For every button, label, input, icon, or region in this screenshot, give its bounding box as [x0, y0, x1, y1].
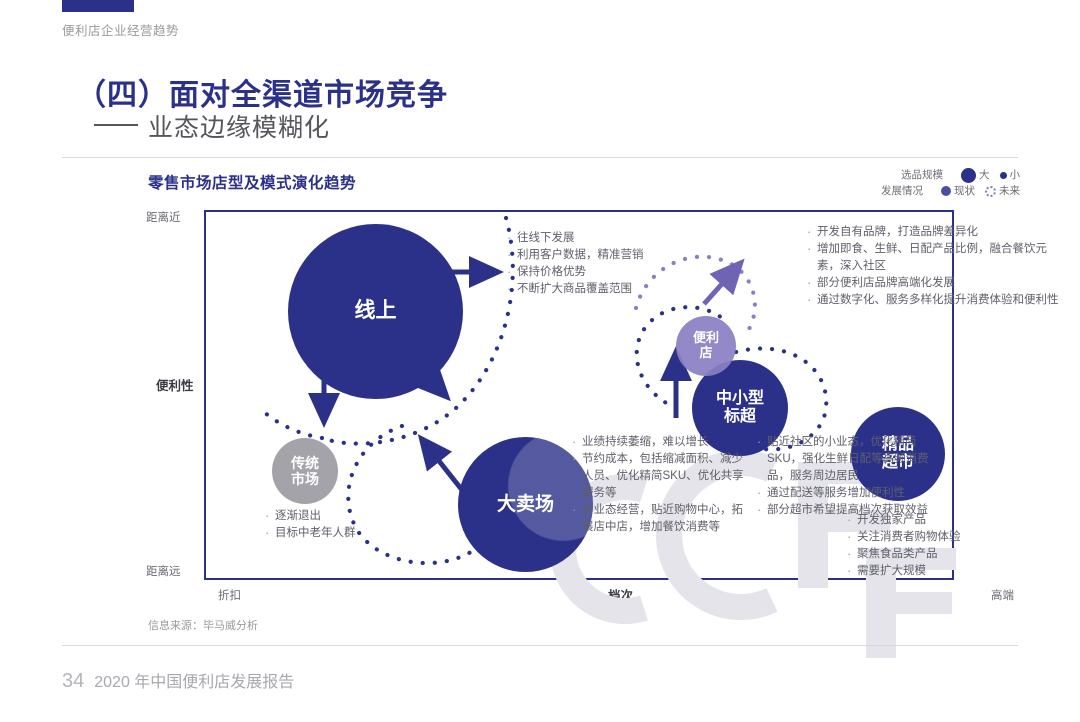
bubble-online[interactable]: 线上: [288, 224, 463, 399]
annotation-bullet: 不断扩大商品覆盖范围: [506, 281, 716, 298]
legend-text-future: 未来: [999, 183, 1020, 199]
annotation-bullet: 开发自有品牌，打造品牌差异化: [806, 224, 1068, 241]
legend-item-future: 未来: [985, 183, 1020, 199]
bubble-traditional-label-line2: 市场: [291, 471, 319, 487]
page-footer: 342020 年中国便利店发展报告: [62, 668, 294, 693]
annotation-bullet: 关注消费者购物体验: [846, 529, 996, 546]
annotation-bullet: 需要扩大规模: [846, 563, 996, 580]
page-number: 34: [62, 670, 84, 692]
annotation-bullet: 部分便利店品牌高端化发展: [806, 275, 1068, 292]
chart-legend: 选品规模 大 小 发展情况 现状 未来: [881, 167, 1020, 199]
annotation-bullet: 开发独家产品: [846, 512, 996, 529]
legend-text-small: 小: [1010, 167, 1021, 183]
bubble-convenience-store[interactable]: 便利 店: [676, 316, 736, 376]
running-head: 便利店企业经营趋势: [62, 20, 179, 39]
bubble-convenience-label: 便利 店: [693, 331, 719, 361]
legend-text-current: 现状: [954, 183, 975, 199]
header-accent-bar: [62, 0, 134, 12]
legend-row-scale: 选品规模 大 小: [881, 167, 1020, 183]
bubble-convenience-label-line1: 便利: [693, 330, 719, 345]
annotation-bullet: 聚焦食品类产品: [846, 546, 996, 563]
filled-circle-icon: [941, 186, 951, 196]
bubble-traditional-label: 传统 市场: [291, 455, 319, 487]
annotation-hypermarket: 业绩持续萎缩，难以增长节约成本，包括缩减面积、减少人员、优化精简SKU、优化共享…: [571, 434, 751, 536]
dotted-circle-icon: [985, 186, 996, 197]
annotation-bullet: 贴近社区的小业态，优化精简SKU，强化生鲜日配等高频消费品，服务周边居民: [756, 434, 941, 485]
annotation-bullet: 逐渐退出: [264, 508, 374, 525]
annotation-bullet: 往线下发展: [506, 230, 716, 247]
annotation-bullet: 节约成本，包括缩减面积、减少人员、优化精简SKU、优化共享服务等: [571, 451, 751, 502]
plot-area: 线上 大卖场 中小型 标超 便利 店 精品: [204, 210, 954, 580]
annotation-online: 往线下发展利用客户数据，精准营销保持价格优势不断扩大商品覆盖范围: [506, 230, 716, 298]
bubble-traditional-market[interactable]: 传统 市场: [272, 438, 338, 504]
annotation-bullet: 增加即食、生鲜、日配产品比例，融合餐饮元素，深入社区: [806, 241, 1068, 275]
annotation-convenience-list: 开发自有品牌，打造品牌差异化增加即食、生鲜、日配产品比例，融合餐饮元素，深入社区…: [806, 224, 1068, 309]
bubble-midsize-label: 中小型 标超: [716, 390, 764, 427]
axis-label-y-top: 距离近: [146, 209, 181, 225]
annotation-bullet: 目标中老年人群: [264, 525, 374, 542]
annotation-online-list: 往线下发展利用客户数据，精准营销保持价格优势不断扩大商品覆盖范围: [506, 230, 716, 298]
legend-text-large: 大: [979, 167, 990, 183]
small-circle-icon: [1000, 172, 1007, 179]
annotation-midsize-list: 贴近社区的小业态，优化精简SKU，强化生鲜日配等高频消费品，服务周边居民通过配送…: [756, 434, 941, 519]
legend-item-small: 小: [1000, 167, 1021, 183]
bubble-midsize-label-line1: 中小型: [716, 390, 764, 407]
axis-label-x-left: 折扣: [218, 587, 241, 603]
annotation-premium-list: 开发独家产品关注消费者购物体验聚焦食品类产品需要扩大规模: [846, 512, 996, 580]
bubble-convenience-label-line2: 店: [699, 345, 712, 360]
page-subtitle: 业态边缘模糊化: [94, 108, 330, 144]
report-page: 便利店企业经营趋势 （四）面对全渠道市场竞争 业态边缘模糊化 零售市场店型及模式…: [0, 0, 1080, 722]
annotation-traditional: 逐渐退出目标中老年人群: [264, 508, 374, 542]
axis-label-y-bottom: 距离远: [146, 563, 181, 579]
annotation-bullet: 业绩持续萎缩，难以增长: [571, 434, 751, 451]
chart-title: 零售市场店型及模式演化趋势: [148, 171, 356, 193]
annotation-bullet: 通过数字化、服务多样化提升消费体验和便利性: [806, 292, 1068, 309]
chart-source: 信息来源：毕马威分析: [148, 617, 258, 633]
bubble-traditional-label-line1: 传统: [291, 455, 319, 471]
annotation-bullet: 保持价格优势: [506, 264, 716, 281]
divider-bottom: [62, 645, 1018, 646]
legend-label-status: 发展情况: [881, 183, 923, 199]
legend-item-current: 现状: [941, 183, 975, 199]
divider-top: [62, 157, 1018, 158]
axis-title-y: 便利性: [156, 375, 194, 394]
axis-title-x: 档次: [608, 585, 633, 604]
annotation-midsize: 贴近社区的小业态，优化精简SKU，强化生鲜日配等高频消费品，服务周边居民通过配送…: [756, 434, 941, 519]
legend-item-large: 大: [961, 167, 990, 183]
annotation-bullet: 利用客户数据，精准营销: [506, 247, 716, 264]
title-dash: [94, 124, 138, 126]
chart-container: 零售市场店型及模式演化趋势 选品规模 大 小 发展情况 现状: [140, 165, 1020, 635]
annotation-bullet: 通过配送等服务增加便利性: [756, 485, 941, 502]
annotation-hypermarket-list: 业绩持续萎缩，难以增长节约成本，包括缩减面积、减少人员、优化精简SKU、优化共享…: [571, 434, 751, 536]
annotation-traditional-list: 逐渐退出目标中老年人群: [264, 508, 374, 542]
legend-label-scale: 选品规模: [901, 167, 943, 183]
bubble-midsize-label-line2: 标超: [724, 408, 756, 425]
axis-label-x-right: 高端: [991, 587, 1014, 603]
annotation-convenience: 开发自有品牌，打造品牌差异化增加即食、生鲜、日配产品比例，融合餐饮元素，深入社区…: [806, 224, 1068, 309]
legend-row-status: 发展情况 现状 未来: [881, 183, 1020, 199]
footer-report-title: 2020 年中国便利店发展报告: [94, 674, 294, 691]
annotation-bullet: 多业态经营，贴近购物中心，拓展店中店，增加餐饮消费等: [571, 502, 751, 536]
large-circle-icon: [961, 168, 976, 183]
page-subtitle-text: 业态边缘模糊化: [148, 114, 330, 142]
bubble-online-label: 线上: [355, 299, 397, 323]
annotation-premium: 开发独家产品关注消费者购物体验聚焦食品类产品需要扩大规模: [846, 512, 996, 580]
